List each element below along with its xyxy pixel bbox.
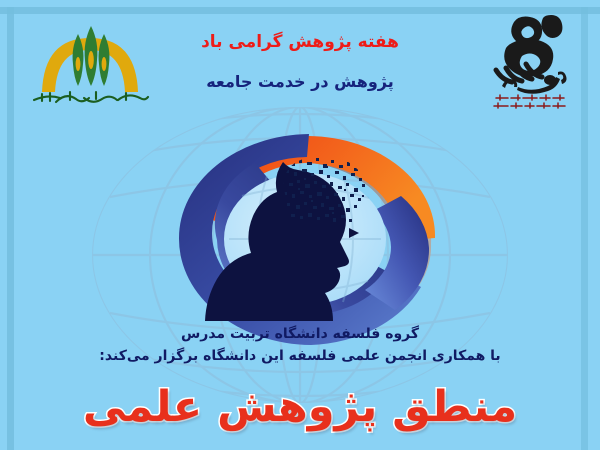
poster-main-title: منطق پژوهش علمی bbox=[0, 382, 600, 432]
poster-canvas: هفته پژوهش گرامی باد پژوهش در خدمت جامعه… bbox=[0, 0, 600, 450]
philosophy-association-logo bbox=[484, 10, 576, 118]
organizer-line-1: گروه فلسفه دانشگاه تربیت مدرس bbox=[0, 326, 600, 342]
logo-caption-lines bbox=[494, 95, 565, 108]
spiral-brain-graphic bbox=[133, 100, 473, 345]
organizer-line-2: با همکاری انجمن علمی فلسفه این دانشگاه ب… bbox=[0, 348, 600, 364]
header-slogan-secondary: پژوهش در خدمت جامعه bbox=[0, 72, 600, 91]
logo-caption-calligraphy bbox=[34, 92, 148, 102]
header-slogan-primary: هفته پژوهش گرامی باد bbox=[0, 32, 600, 52]
